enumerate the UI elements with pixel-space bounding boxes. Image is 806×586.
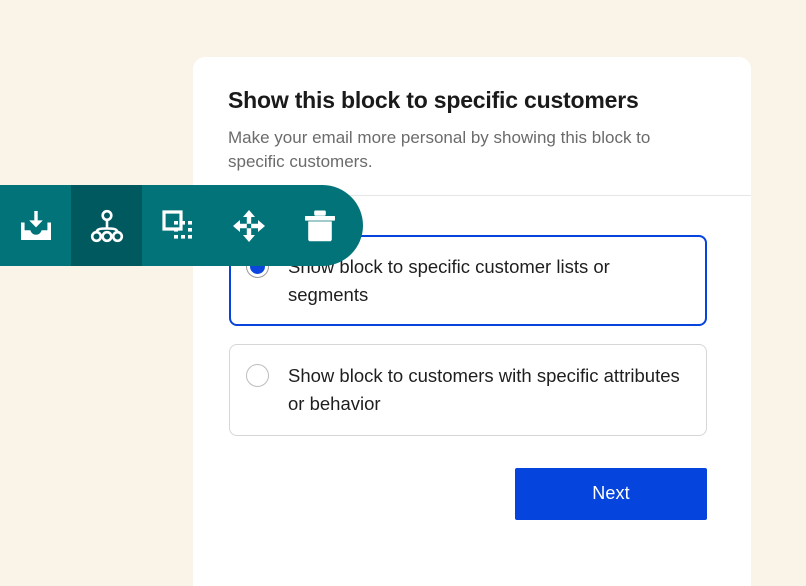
next-button[interactable]: Next <box>515 468 707 520</box>
delete-block-icon <box>300 206 340 246</box>
page-title: Show this block to specific customers <box>228 87 715 115</box>
block-toolbar <box>0 185 363 266</box>
move-block-button[interactable] <box>213 185 284 266</box>
delete-block-button[interactable] <box>284 185 355 266</box>
conditional-content-button[interactable] <box>71 185 142 266</box>
option-label: Show block to customers with specific at… <box>288 362 688 418</box>
save-block-button[interactable] <box>0 185 71 266</box>
panel-subtitle: Make your email more personal by showing… <box>228 126 658 174</box>
duplicate-block-button[interactable] <box>142 185 213 266</box>
duplicate-block-icon <box>158 206 198 246</box>
option-label: Show block to specific customer lists or… <box>288 253 688 309</box>
save-to-inbox-icon <box>16 206 56 246</box>
panel-footer: Next <box>193 436 751 520</box>
show-block-panel: Show this block to specific customers Ma… <box>193 57 751 586</box>
option-customer-attributes-or-behavior[interactable]: Show block to customers with specific at… <box>229 344 707 436</box>
conditional-branch-icon <box>87 206 127 246</box>
radio-button-unselected[interactable] <box>246 364 269 387</box>
radio-dot-icon <box>250 368 265 383</box>
move-block-icon <box>229 206 269 246</box>
panel-header: Show this block to specific customers Ma… <box>193 57 751 174</box>
